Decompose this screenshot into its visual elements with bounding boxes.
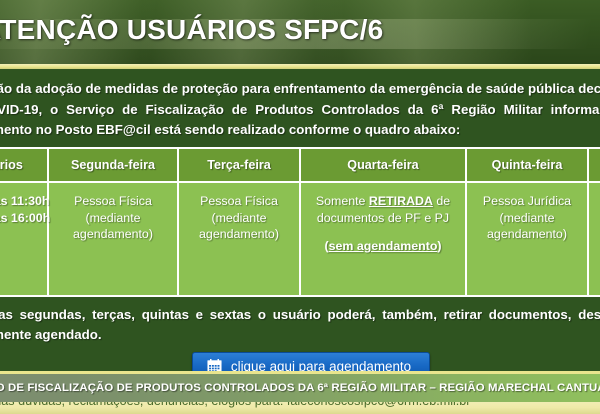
hours-line-1: 08:30h às 11:30h: [0, 193, 43, 210]
col-header-terca: Terça-feira: [178, 148, 300, 182]
cell-quinta-main: Pessoa Jurídica: [471, 193, 583, 210]
cell-terca-sub: (mediante agendamento): [183, 210, 295, 243]
col-header-horarios: Horários: [0, 148, 48, 182]
page-footer: SERVIÇO DE FISCALIZAÇÃO DE PRODUTOS CONT…: [0, 371, 600, 402]
cell-quarta-spacer: [305, 226, 461, 238]
hours-line-2: 13:00h às 16:00h: [0, 210, 43, 227]
schedule-table: Horários Segunda-feira Terça-feira Quart…: [0, 147, 600, 297]
page-title: ATENÇÃO USUÁRIOS SFPC/6: [0, 0, 600, 46]
col-header-quarta: Quarta-feira: [300, 148, 466, 182]
cell-terca: Pessoa Física (mediante agendamento): [178, 182, 300, 296]
page-header: ATENÇÃO USUÁRIOS SFPC/6: [0, 0, 600, 64]
notice-paragraph: Em razão da adoção de medidas de proteçã…: [0, 79, 600, 141]
cell-quinta: Pessoa Jurídica (mediante agendamento): [466, 182, 588, 296]
note-paragraph: Obs: nas segundas, terças, quintas e sex…: [0, 305, 600, 346]
col-header-quinta: Quinta-feira: [466, 148, 588, 182]
cell-terca-main: Pessoa Física: [183, 193, 295, 210]
cell-hours: 08:30h às 11:30h 13:00h às 16:00h: [0, 182, 48, 296]
cell-segunda-main: Pessoa Física: [53, 193, 173, 210]
cell-sexta: Pessoa Jurídica (mediante agendamento): [588, 182, 600, 296]
note-section: Obs: nas segundas, terças, quintas e sex…: [0, 297, 600, 346]
notice-section: Em razão da adoção de medidas de proteçã…: [0, 69, 600, 141]
cell-quarta-emphasis: RETIRADA: [369, 194, 433, 208]
col-header-segunda: Segunda-feira: [48, 148, 178, 182]
notice-page: ATENÇÃO USUÁRIOS SFPC/6 Em razão da adoç…: [0, 0, 600, 402]
cell-quarta-main: Somente RETIRADA de documentos de PF e P…: [305, 193, 461, 226]
col-header-sexta: Sexta-feira: [588, 148, 600, 182]
cell-quarta: Somente RETIRADA de documentos de PF e P…: [300, 182, 466, 296]
schedule-table-wrap: Horários Segunda-feira Terça-feira Quart…: [0, 141, 600, 297]
cell-quarta-extra: (sem agendamento): [305, 238, 461, 255]
cell-sexta-sub: (mediante agendamento): [593, 210, 600, 243]
cell-quarta-extra-post: ): [437, 239, 441, 253]
footer-label: SERVIÇO DE FISCALIZAÇÃO DE PRODUTOS CONT…: [0, 382, 600, 394]
cell-quarta-pre: Somente: [316, 194, 369, 208]
table-row: 08:30h às 11:30h 13:00h às 16:00h Pessoa…: [0, 182, 600, 296]
table-header-row: Horários Segunda-feira Terça-feira Quart…: [0, 148, 600, 182]
cell-sexta-main: Pessoa Jurídica: [593, 193, 600, 210]
cell-quinta-sub: (mediante agendamento): [471, 210, 583, 243]
cell-segunda: Pessoa Física (mediante agendamento): [48, 182, 178, 296]
cell-segunda-sub: (mediante agendamento): [53, 210, 173, 243]
cell-quarta-extra-emphasis: sem agendamento: [329, 239, 438, 253]
